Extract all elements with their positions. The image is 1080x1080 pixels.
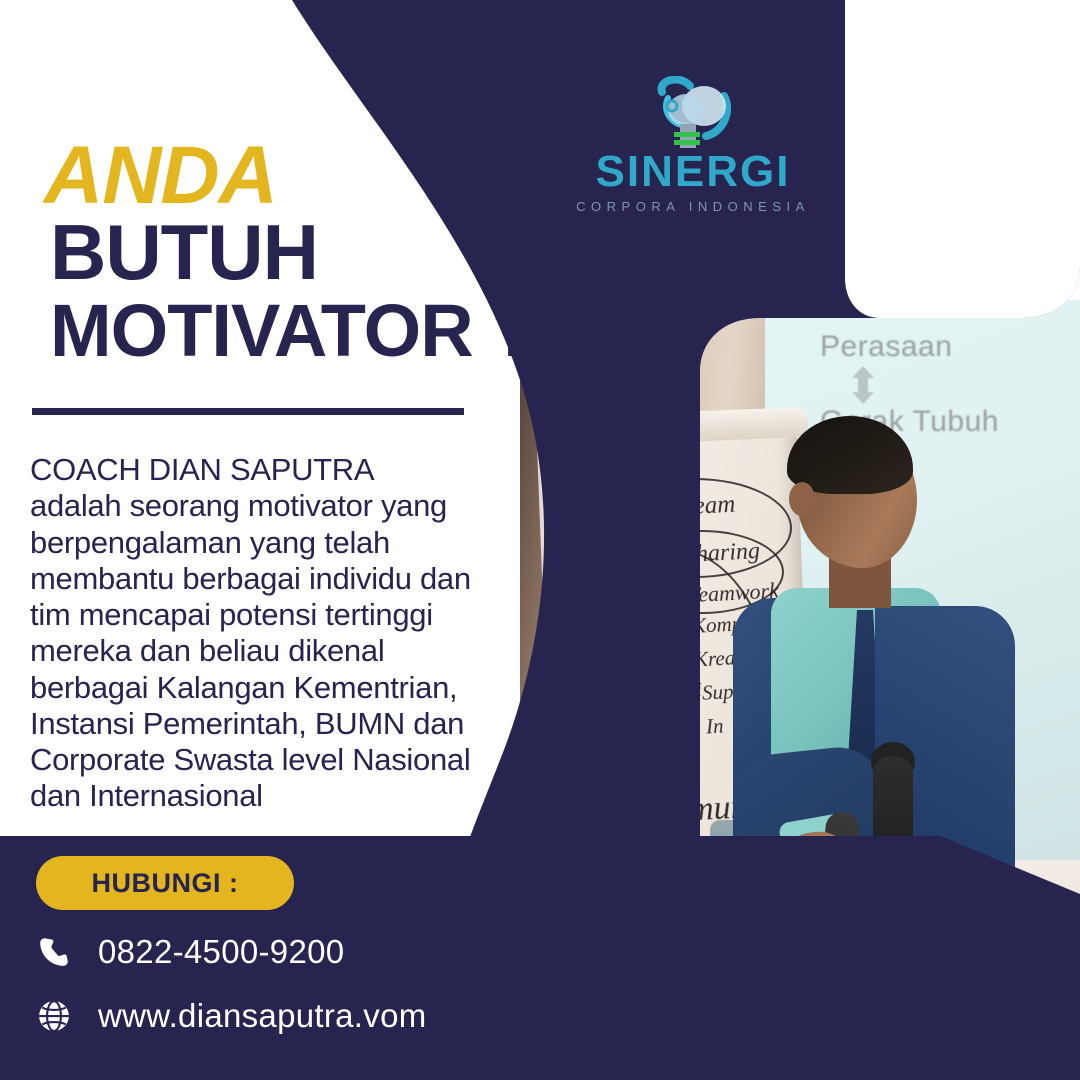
flipchart-note-in: In bbox=[705, 714, 724, 740]
phone-icon bbox=[34, 932, 74, 972]
website-url: www.diansaputra.vom bbox=[98, 997, 427, 1035]
body-copy: COACH DIAN SAPUTRAadalah seorang motivat… bbox=[30, 452, 500, 815]
flipchart-note-kolaborasi: Kolaborasi. bbox=[573, 715, 679, 746]
phone-number: 0822-4500-9200 bbox=[98, 933, 344, 971]
headline-line-3: MOTIVATOR ? bbox=[50, 293, 644, 368]
headline-line-2: BUTUH bbox=[50, 213, 644, 293]
page-title: ANDA BUTUH MOTIVATOR ? bbox=[44, 138, 644, 368]
body-paragraph: adalah seorang motivator yang berpengala… bbox=[30, 488, 471, 813]
hubungi-button-label: HUBUNGI : bbox=[92, 868, 239, 899]
contact-row-website[interactable]: www.diansaputra.vom bbox=[34, 996, 554, 1036]
globe-icon bbox=[34, 996, 74, 1036]
updown-arrow-icon bbox=[850, 366, 876, 404]
flipchart-note-sama: sama bbox=[571, 571, 619, 599]
headline-line-1: ANDA bbox=[44, 138, 644, 213]
handshake-logo-icon bbox=[628, 76, 758, 154]
contact-list: 0822-4500-9200 www.diansaputra.vom bbox=[34, 932, 554, 1060]
poster-canvas: Perasaan Gerak Tubuh Team Sharing Teamwo… bbox=[0, 0, 1080, 1080]
speaker-ear bbox=[789, 482, 815, 516]
hubungi-button[interactable]: HUBUNGI : bbox=[36, 856, 294, 910]
body-lead: COACH DIAN SAPUTRA bbox=[30, 452, 500, 488]
contact-row-phone[interactable]: 0822-4500-9200 bbox=[34, 932, 554, 972]
flipchart-note-inspirator: Inspirator. bbox=[567, 646, 656, 676]
projector-slide-line1: Perasaan bbox=[820, 330, 952, 364]
white-notch-top-right bbox=[845, 0, 1080, 318]
divider-rule bbox=[32, 408, 464, 415]
flipchart-note-berani: Berani bbox=[577, 610, 638, 639]
